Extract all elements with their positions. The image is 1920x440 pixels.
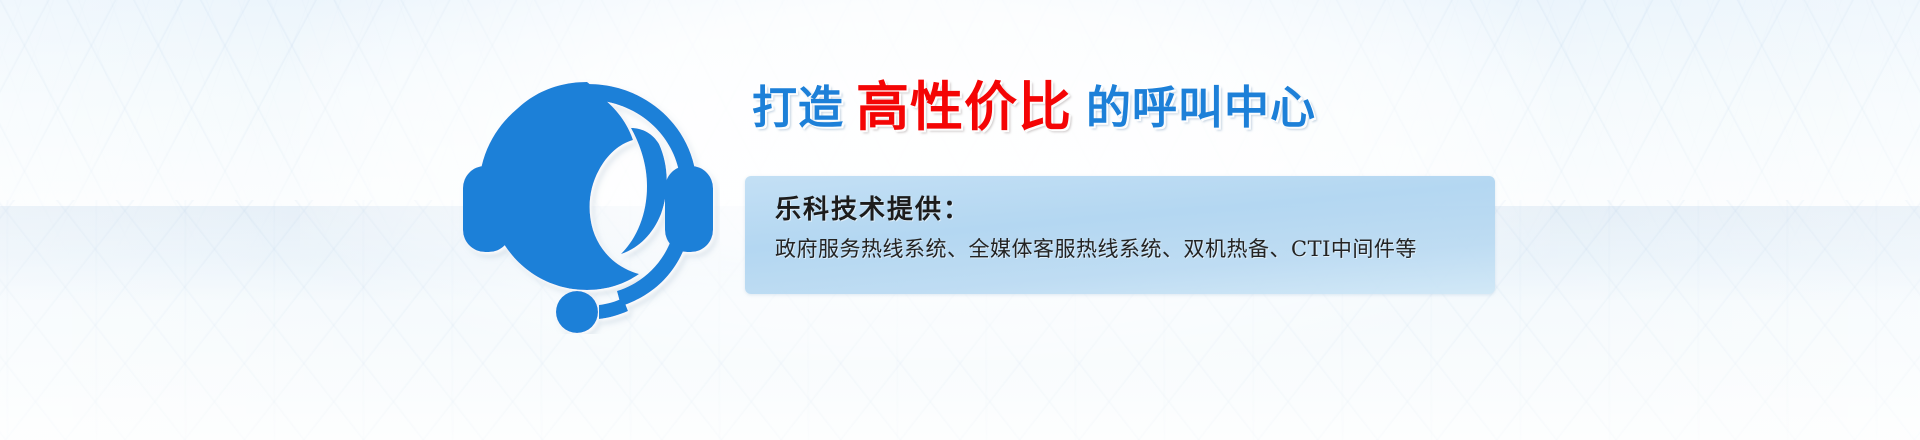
promo-banner: 打造 高性价比 的呼叫中心 乐科技术提供： 政府服务热线系统、全媒体客服热线系统…: [0, 0, 1920, 440]
banner-headline: 打造 高性价比 的呼叫中心: [752, 72, 1316, 134]
info-box-description: 政府服务热线系统、全媒体客服热线系统、双机热备、CTI中间件等: [775, 230, 1495, 268]
headline-part-one: 打造: [752, 71, 844, 136]
customer-service-agent-headset-icon: [455, 62, 720, 334]
info-box-title: 乐科技术提供：: [775, 190, 1495, 230]
background-vignette-right: [1500, 0, 1920, 440]
headline-part-three: 的呼叫中心: [1086, 71, 1316, 136]
headline-highlight: 高性价比: [856, 65, 1072, 141]
background-vignette-left: [0, 0, 420, 440]
services-info-box: 乐科技术提供： 政府服务热线系统、全媒体客服热线系统、双机热备、CTI中间件等: [745, 176, 1495, 294]
